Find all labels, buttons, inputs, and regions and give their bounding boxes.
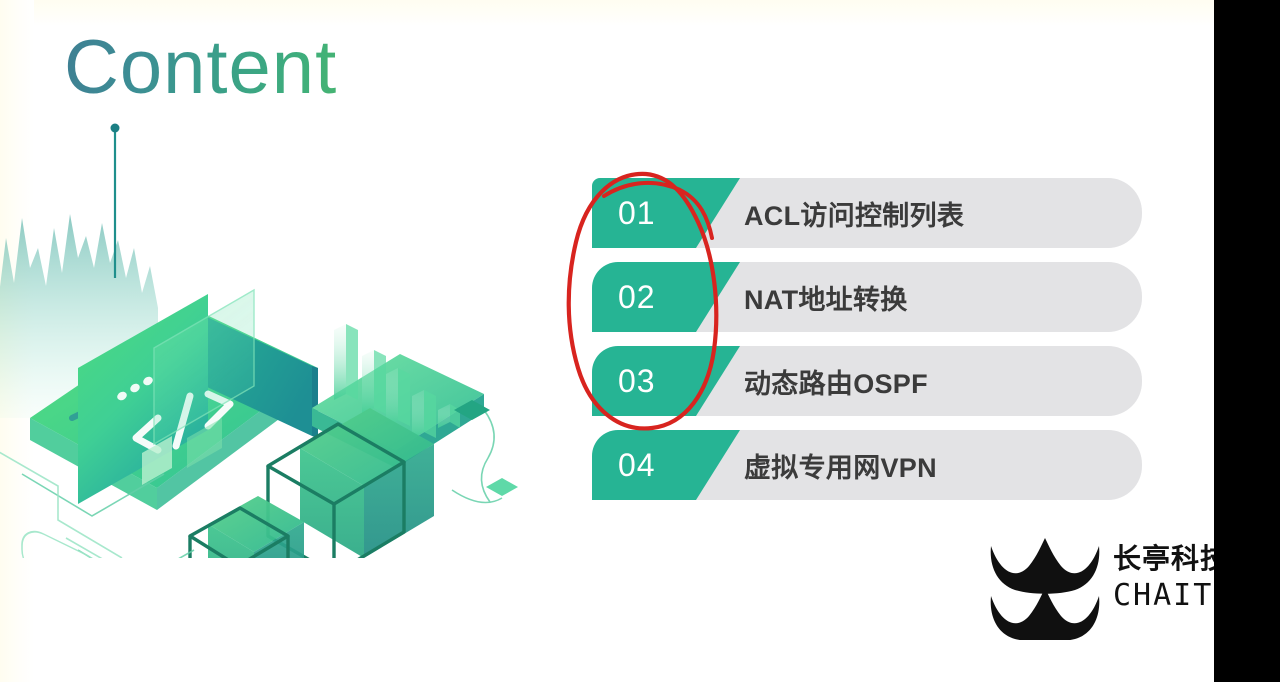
list-item-number: 01 xyxy=(618,178,656,248)
previous-icon[interactable] xyxy=(24,648,44,668)
slide-canvas: Content xyxy=(0,0,1214,682)
brand-name-cn: 长亭科技 xyxy=(1113,540,1214,578)
laptop-base xyxy=(30,308,318,488)
antenna xyxy=(111,124,120,279)
cube-small xyxy=(190,496,304,558)
chart-columns xyxy=(334,324,460,438)
list-icon[interactable] xyxy=(104,648,124,668)
node-connectors xyxy=(22,410,502,558)
glass-panel xyxy=(154,290,254,444)
brand-logo-text: 长亭科技 CHAITIN xyxy=(1113,540,1214,614)
list-item-label: NAT地址转换 xyxy=(744,262,908,332)
list-item-number: 03 xyxy=(618,346,656,416)
wire-paths xyxy=(0,448,452,558)
chaitin-crown-icon xyxy=(985,536,1105,640)
deck-block xyxy=(192,310,312,436)
pen-icon[interactable] xyxy=(64,648,84,668)
list-item-number: 04 xyxy=(618,430,656,500)
list-item[interactable]: 03 动态路由OSPF xyxy=(592,346,1152,416)
list-item-label: ACL访问控制列表 xyxy=(744,178,964,248)
chart-platform xyxy=(312,354,484,450)
slide-top-gradient xyxy=(0,0,1214,26)
list-item[interactable]: 01 ACL访问控制列表 xyxy=(592,178,1152,248)
list-item[interactable]: 02 NAT地址转换 xyxy=(592,262,1152,332)
isometric-tech-illustration xyxy=(0,118,562,558)
video-player-stage: Content xyxy=(0,0,1280,682)
content-list: 01 ACL访问控制列表 02 NAT地址转换 03 动态路由OSPF 04 虚… xyxy=(592,178,1152,514)
list-item[interactable]: 04 虚拟专用网VPN xyxy=(592,430,1152,500)
player-toolbar[interactable] xyxy=(24,648,164,668)
list-item-number: 02 xyxy=(618,262,656,332)
diamond-nodes xyxy=(144,400,518,496)
brand-name-en: CHAITIN xyxy=(1113,578,1214,614)
page-title: Content xyxy=(64,30,337,106)
cube-large xyxy=(268,408,434,558)
code-glyph xyxy=(136,394,230,450)
window-dots xyxy=(116,375,155,402)
next-icon[interactable] xyxy=(144,648,164,668)
code-screen xyxy=(78,294,208,504)
brand-logo: 长亭科技 CHAITIN xyxy=(985,528,1214,648)
list-item-label: 动态路由OSPF xyxy=(744,346,928,416)
list-item-label: 虚拟专用网VPN xyxy=(744,430,937,500)
slide-left-gradient xyxy=(0,0,34,682)
letterbox-right-bar xyxy=(1214,0,1280,682)
